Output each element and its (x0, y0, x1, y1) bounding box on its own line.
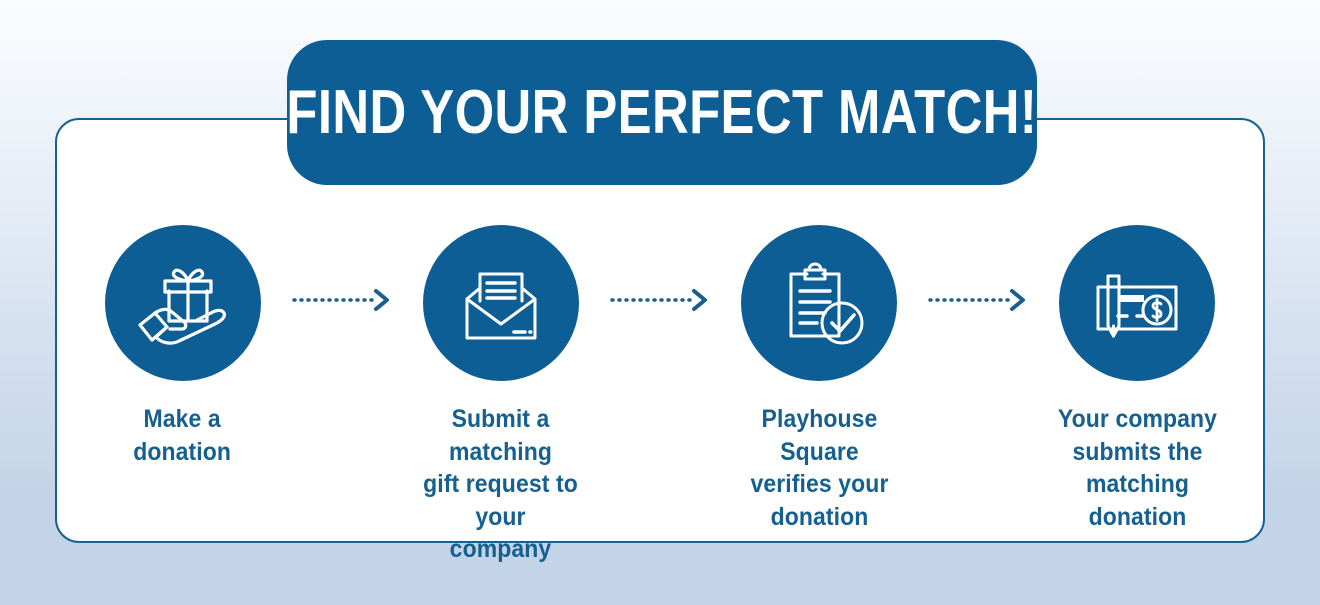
step-3-label: Playhouse Squareverifies yourdonation (720, 403, 918, 533)
step-4-label: Your companysubmits thematching donation (1039, 403, 1237, 533)
step-company-submits-matching-donation: Your companysubmits thematching donation (1030, 225, 1245, 533)
step-1-icon-circle (105, 225, 261, 381)
step-4-icon-circle (1059, 225, 1215, 381)
connector-2 (610, 287, 710, 318)
step-3-icon-circle (741, 225, 897, 381)
step-1-label: Make adonation (134, 403, 232, 468)
clipboard-check-icon (767, 251, 871, 355)
infographic-canvas: FIND YOUR PERFECT MATCH! (0, 0, 1320, 605)
dotted-arrow-right-icon (928, 287, 1028, 318)
step-playhouse-square-verifies: Playhouse Squareverifies yourdonation (712, 225, 927, 533)
dotted-arrow-right-icon (610, 287, 710, 318)
step-submit-matching-gift-request: Submit a matchinggift request to yourcom… (393, 225, 608, 566)
open-envelope-letter-icon (449, 251, 553, 355)
connector-1 (292, 287, 392, 318)
dotted-arrow-right-icon (292, 287, 392, 318)
step-2-icon-circle (423, 225, 579, 381)
step-2-label: Submit a matchinggift request to yourcom… (402, 403, 600, 566)
check-dollar-pen-icon (1085, 251, 1189, 355)
connector-3 (928, 287, 1028, 318)
page-title: FIND YOUR PERFECT MATCH! (287, 82, 1038, 144)
hand-holding-gift-icon (131, 251, 235, 355)
step-make-a-donation: Make adonation (75, 225, 290, 468)
steps-row: Make adonation (55, 225, 1265, 515)
title-banner: FIND YOUR PERFECT MATCH! (287, 40, 1037, 185)
